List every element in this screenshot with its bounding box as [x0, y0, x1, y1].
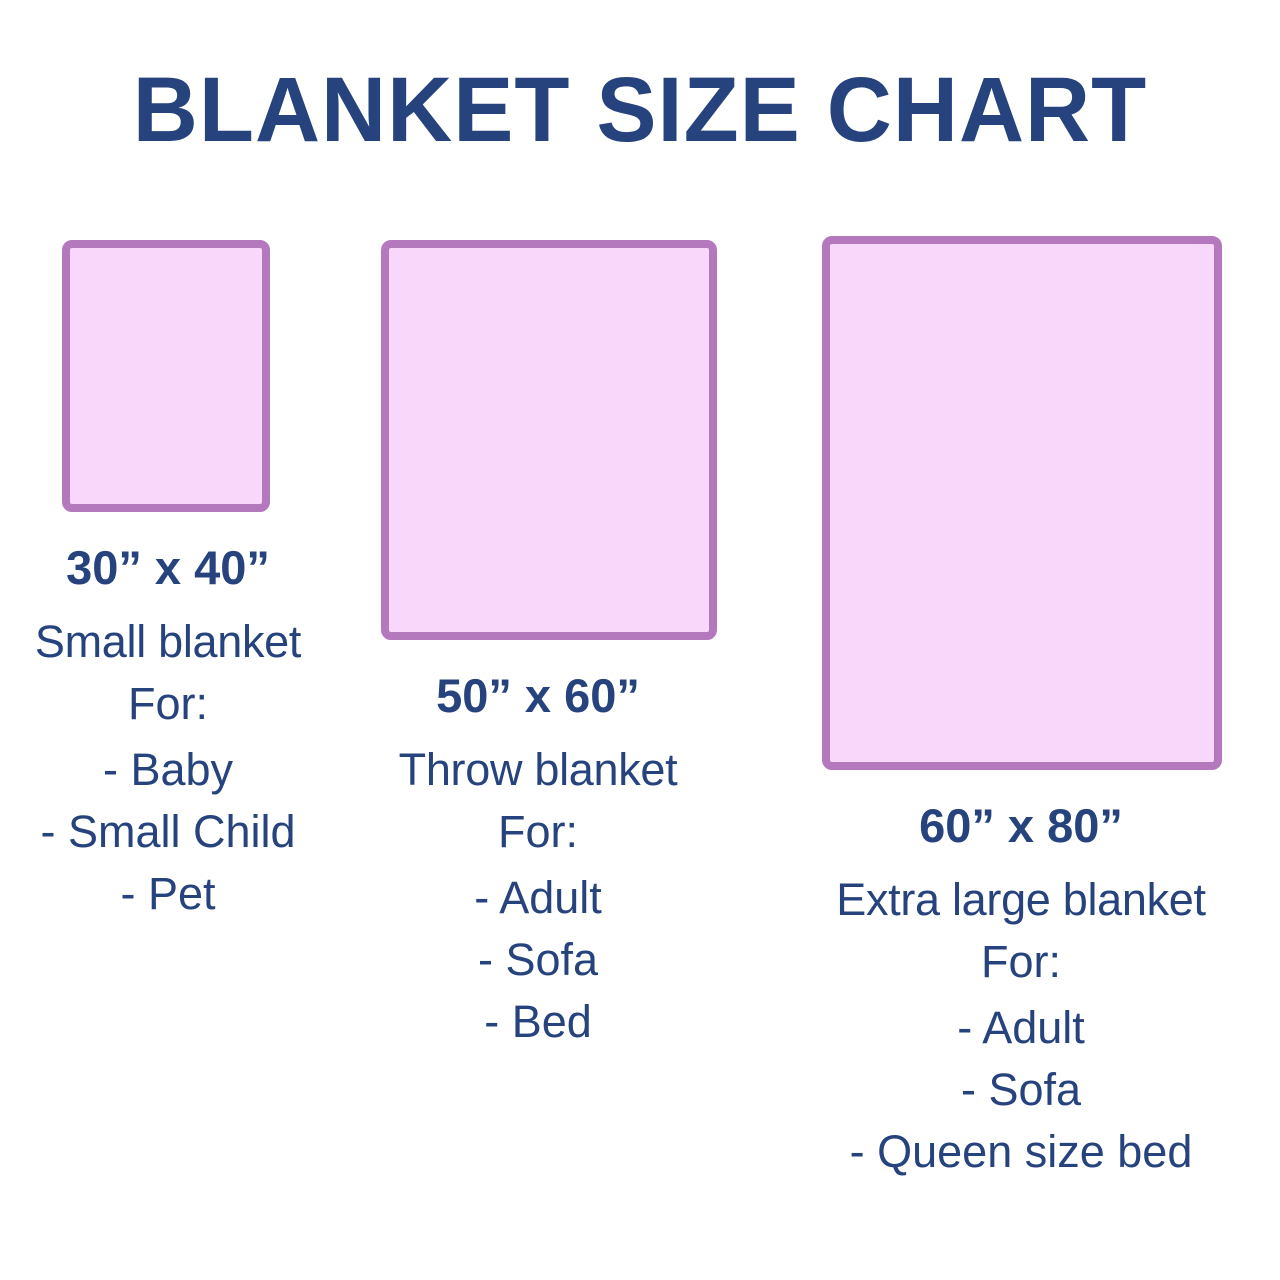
use-list-xlarge: - Adult - Sofa - Queen size bed [786, 997, 1256, 1183]
use-item: - Adult [348, 867, 728, 929]
use-item: - Small Child [0, 801, 338, 863]
use-item: - Baby [0, 739, 338, 801]
blanket-column-throw: 50” x 60” Throw blanket For: - Adult - S… [352, 240, 732, 1053]
blanket-column-xlarge: 60” x 80” Extra large blanket For: - Adu… [790, 236, 1260, 1183]
swatch-wrap-throw [352, 240, 732, 640]
blanket-swatch-throw [381, 240, 717, 640]
for-label-xlarge: For: [786, 931, 1256, 993]
blanket-swatch-xlarge [822, 236, 1222, 770]
blanket-column-small: 30” x 40” Small blanket For: - Baby - Sm… [0, 240, 340, 925]
for-label-throw: For: [348, 801, 728, 863]
swatch-wrap-small [0, 240, 340, 512]
use-item: - Sofa [348, 929, 728, 991]
use-list-small: - Baby - Small Child - Pet [0, 739, 338, 925]
use-item: - Bed [348, 991, 728, 1053]
blanket-info-xlarge: 60” x 80” Extra large blanket For: - Adu… [786, 802, 1256, 1183]
blanket-name-small: Small blanket [0, 611, 338, 673]
use-item: - Pet [0, 863, 338, 925]
use-item: - Queen size bed [786, 1121, 1256, 1183]
use-item: - Adult [786, 997, 1256, 1059]
dimension-label-throw: 50” x 60” [348, 672, 728, 719]
dimension-label-xlarge: 60” x 80” [786, 802, 1256, 849]
blanket-info-small: 30” x 40” Small blanket For: - Baby - Sm… [0, 544, 338, 925]
use-item: - Sofa [786, 1059, 1256, 1121]
blanket-size-chart-page: BLANKET SIZE CHART 30” x 40” Small blank… [0, 0, 1280, 1280]
dimension-label-small: 30” x 40” [0, 544, 338, 591]
blanket-swatch-small [62, 240, 270, 512]
for-label-small: For: [0, 673, 338, 735]
blanket-info-throw: 50” x 60” Throw blanket For: - Adult - S… [348, 672, 728, 1053]
blanket-name-xlarge: Extra large blanket [786, 869, 1256, 931]
swatch-wrap-xlarge [790, 236, 1260, 770]
use-list-throw: - Adult - Sofa - Bed [348, 867, 728, 1053]
blanket-name-throw: Throw blanket [348, 739, 728, 801]
page-title: BLANKET SIZE CHART [13, 64, 1267, 156]
